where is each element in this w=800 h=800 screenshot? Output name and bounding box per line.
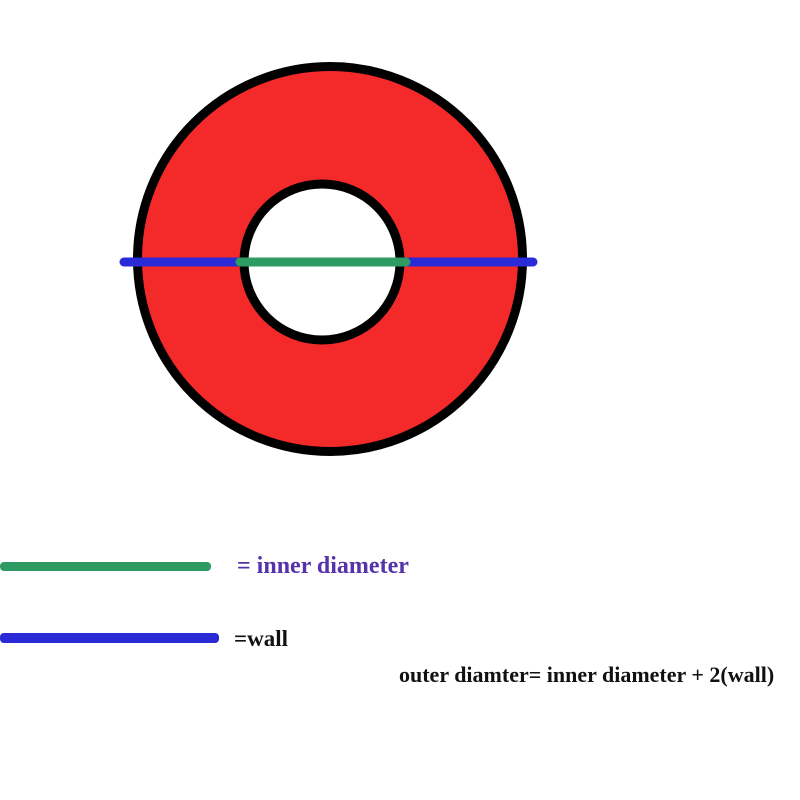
- legend-item-wall: =wall: [0, 620, 800, 660]
- legend-swatch-inner-diameter: [0, 562, 211, 571]
- diagram-canvas: = inner diameter =wall outer diamter= in…: [0, 0, 800, 800]
- formula-text: outer diamter= inner diameter + 2(wall): [399, 664, 774, 686]
- legend-swatch-wall: [0, 633, 219, 643]
- legend-label-wall: =wall: [234, 627, 288, 650]
- legend-label-inner-diameter: = inner diameter: [237, 554, 409, 578]
- legend-item-inner-diameter: = inner diameter: [0, 548, 800, 588]
- pipe-cross-section-svg: [0, 0, 800, 520]
- pipe-cross-section-figure: [0, 0, 800, 520]
